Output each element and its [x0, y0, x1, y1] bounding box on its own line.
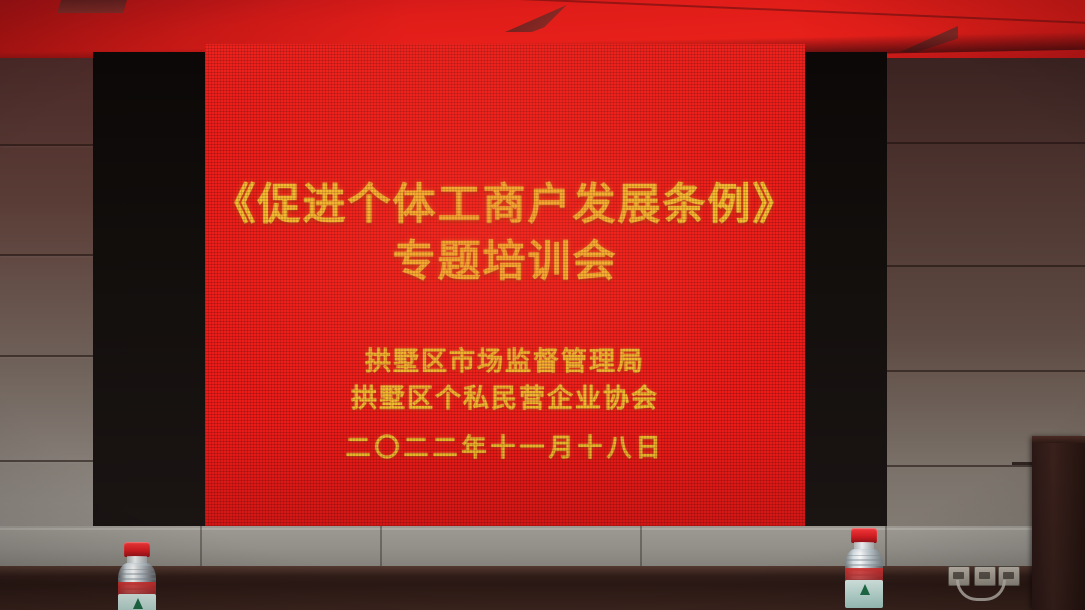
lower-wall-highlight	[0, 528, 1085, 530]
conference-room-photo: 《促进个体工商户发展条例》 专题培训会 拱墅区市场监督管理局 拱墅区个私民营企业…	[0, 0, 1085, 610]
bottle-label	[845, 580, 883, 608]
podium-top-surface	[1032, 436, 1085, 443]
led-bezel-right	[803, 52, 887, 530]
wall-panel-seam	[0, 254, 98, 256]
bottle-label-mark-icon	[860, 584, 870, 595]
wall-panel-seam	[884, 142, 1085, 144]
slide-organization-block: 拱墅区市场监督管理局 拱墅区个私民营企业协会 二〇二二年十一月十八日	[205, 343, 805, 464]
led-slide-content: 《促进个体工商户发展条例》 专题培训会 拱墅区市场监督管理局 拱墅区个私民营企业…	[205, 44, 805, 464]
conference-table	[0, 566, 1085, 610]
slide-title-line-2: 专题培训会	[205, 237, 805, 288]
wall-panel-seam	[884, 370, 1085, 372]
wall-panel-seam	[0, 144, 98, 146]
outlet-slot	[1003, 572, 1014, 579]
outlet-slot	[953, 572, 964, 579]
wall-panel-seam	[0, 460, 98, 462]
table-sheen	[0, 566, 1085, 576]
bottle-cap-icon	[851, 528, 877, 543]
slide-organization-line-1: 拱墅区市场监督管理局	[205, 343, 805, 380]
slide-title-line-1: 《促进个体工商户发展条例》	[205, 180, 805, 231]
wall-panel-seam	[884, 265, 1085, 267]
ceiling-recess-left-icon	[57, 0, 128, 13]
slide-organization-line-2: 拱墅区个私民营企业协会	[205, 380, 805, 417]
led-display-screen: 《促进个体工商户发展条例》 专题培训会 拱墅区市场监督管理局 拱墅区个私民营企业…	[205, 44, 805, 526]
water-bottle	[845, 528, 883, 610]
slide-date: 二〇二二年十一月十八日	[205, 428, 805, 464]
led-bezel-left	[93, 52, 207, 530]
slide-title-block: 《促进个体工商户发展条例》 专题培训会	[205, 180, 805, 287]
wall-panel-seam	[0, 355, 98, 357]
bottle-cap-icon	[124, 542, 150, 557]
podium	[1032, 436, 1085, 610]
bottle-label	[118, 594, 156, 610]
water-bottle	[118, 542, 156, 610]
bottle-label-mark-icon	[133, 598, 143, 609]
outlet-slot	[979, 572, 990, 579]
